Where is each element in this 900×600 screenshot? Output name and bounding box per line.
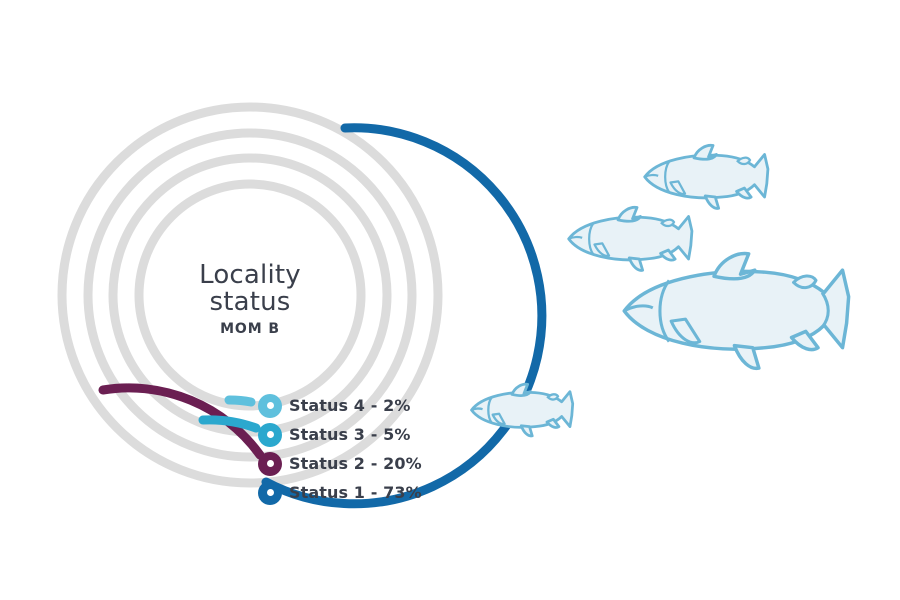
legend-item-status-1[interactable]: Status 1 - 73% <box>258 478 518 507</box>
legend-label-status-2: Status 2 - 20% <box>289 454 422 473</box>
salmon-large <box>624 254 848 369</box>
salmon-adipose-fin-path <box>662 220 674 226</box>
infographic-canvas: Locality status MOM B Status 4 - 2% Stat… <box>0 0 900 600</box>
salmon-adipose-fin-path <box>794 276 816 288</box>
legend-item-status-3[interactable]: Status 3 - 5% <box>258 420 518 449</box>
legend-item-status-2[interactable]: Status 2 - 20% <box>258 449 518 478</box>
salmon-dorsal-fin-path <box>714 254 755 279</box>
legend-label-status-3: Status 3 - 5% <box>289 425 410 444</box>
track-ring-4 <box>139 184 361 406</box>
salmon-adipose-fin-path <box>738 158 750 164</box>
ring-marker-icon <box>258 394 282 418</box>
radial-donut-chart <box>0 0 900 600</box>
ring-marker-icon <box>258 481 282 505</box>
salmon-dorsal-fin-path <box>618 207 640 221</box>
legend-label-status-1: Status 1 - 73% <box>289 483 422 502</box>
ring-marker-icon <box>258 423 282 447</box>
salmon-anal-fin-path <box>521 426 532 436</box>
salmon-dorsal-fin-path <box>694 145 716 159</box>
salmon-anal-fin-path <box>629 258 642 270</box>
chart-legend: Status 4 - 2% Status 3 - 5% Status 2 - 2… <box>258 391 518 507</box>
salmon-small-upper-left <box>569 207 692 270</box>
legend-label-status-4: Status 4 - 2% <box>289 396 410 415</box>
salmon-anal-fin-path <box>705 196 718 208</box>
arc-status-4[interactable] <box>229 400 251 402</box>
ring-marker-icon <box>258 452 282 476</box>
salmon-small-top <box>645 145 768 208</box>
salmon-school-illustration <box>472 145 849 436</box>
legend-item-status-4[interactable]: Status 4 - 2% <box>258 391 518 420</box>
salmon-adipose-fin-path <box>548 394 558 399</box>
